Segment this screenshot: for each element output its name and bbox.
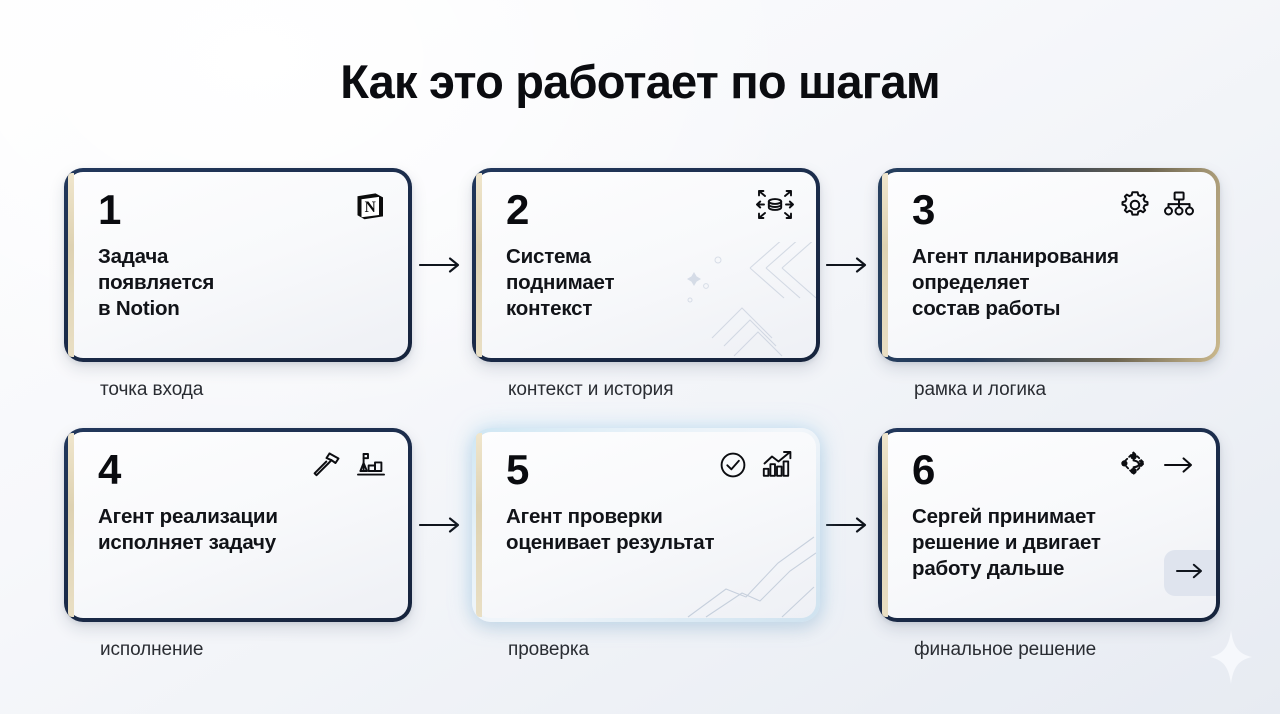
step-card-6[interactable]: 6 Сергей принимает решение и двигает раб… — [878, 428, 1220, 622]
connector-1-2 — [412, 168, 472, 362]
step-icons-5 — [716, 448, 796, 482]
step-text-1: Задача появляется в Notion — [98, 244, 386, 321]
hierarchy-tree-icon — [1162, 188, 1196, 222]
step-card-5[interactable]: 5 Агент проверки оценивает результат — [472, 428, 820, 622]
arrow-right-icon — [1174, 559, 1208, 588]
growth-chart-icon — [760, 448, 796, 482]
arrow-right-icon — [826, 255, 872, 275]
step-cell-4: 4 Агент реализации исполняет задачу — [64, 428, 412, 661]
connector-5-6 — [820, 428, 878, 622]
arrow-right-icon — [1162, 452, 1196, 478]
step-card-3[interactable]: 3 Агент планирования определяет состав р… — [878, 168, 1220, 362]
step-cell-2: 2 Система поднимает контекст — [472, 168, 820, 401]
arrow-right-icon — [826, 515, 872, 535]
step-caption-5: проверка — [472, 639, 820, 661]
arrow-right-icon — [419, 255, 465, 275]
step-text-4: Агент реализации исполняет задачу — [98, 504, 386, 556]
notion-logo-icon: N — [352, 188, 388, 224]
step-text-2: Система поднимает контекст — [506, 244, 794, 321]
step-icons-3 — [1118, 188, 1196, 222]
step-text-3: Агент планирования определяет состав раб… — [912, 244, 1194, 321]
step-number-1: 1 — [98, 190, 386, 230]
step-text-5: Агент проверки оценивает результат — [506, 504, 794, 556]
step-card-1[interactable]: 1 Задача появляется в Notion N — [64, 168, 412, 362]
next-step-button[interactable] — [1164, 550, 1216, 596]
step-card-2[interactable]: 2 Система поднимает контекст — [472, 168, 820, 362]
connector-4-5 — [412, 428, 472, 622]
gear-icon — [1118, 188, 1152, 222]
step-caption-4: исполнение — [64, 639, 412, 661]
connector-2-3 — [820, 168, 878, 362]
steps-grid: 1 Задача появляется в Notion N точка вхо… — [64, 168, 1220, 650]
database-distribution-icon — [754, 188, 796, 228]
step-caption-3: рамка и логика — [878, 379, 1220, 401]
arrow-right-icon — [419, 515, 465, 535]
svg-text:N: N — [365, 199, 376, 216]
step-icons-1: N — [352, 188, 388, 224]
step-cell-1: 1 Задача появляется в Notion N точка вхо… — [64, 168, 412, 401]
step-icons-2 — [754, 188, 796, 228]
step-cell-3: 3 Агент планирования определяет состав р… — [878, 168, 1220, 401]
step-icons-4 — [310, 448, 388, 482]
construction-site-icon — [354, 448, 388, 482]
step-cell-5: 5 Агент проверки оценивает результат — [472, 428, 820, 661]
step-cell-6: 6 Сергей принимает решение и двигает раб… — [878, 428, 1220, 661]
step-number-2: 2 — [506, 190, 794, 230]
page-title: Как это работает по шагам — [0, 54, 1280, 109]
step-caption-2: контекст и история — [472, 379, 820, 401]
step-caption-6: финальное решение — [878, 639, 1220, 661]
check-circle-icon — [716, 448, 750, 482]
step-caption-1: точка входа — [64, 379, 412, 401]
hammer-icon — [310, 448, 344, 482]
decision-flow-icon — [1116, 448, 1152, 482]
step-icons-6 — [1116, 448, 1196, 482]
step-card-4[interactable]: 4 Агент реализации исполняет задачу — [64, 428, 412, 622]
step-text-6: Сергей принимает решение и двигает работ… — [912, 504, 1194, 581]
